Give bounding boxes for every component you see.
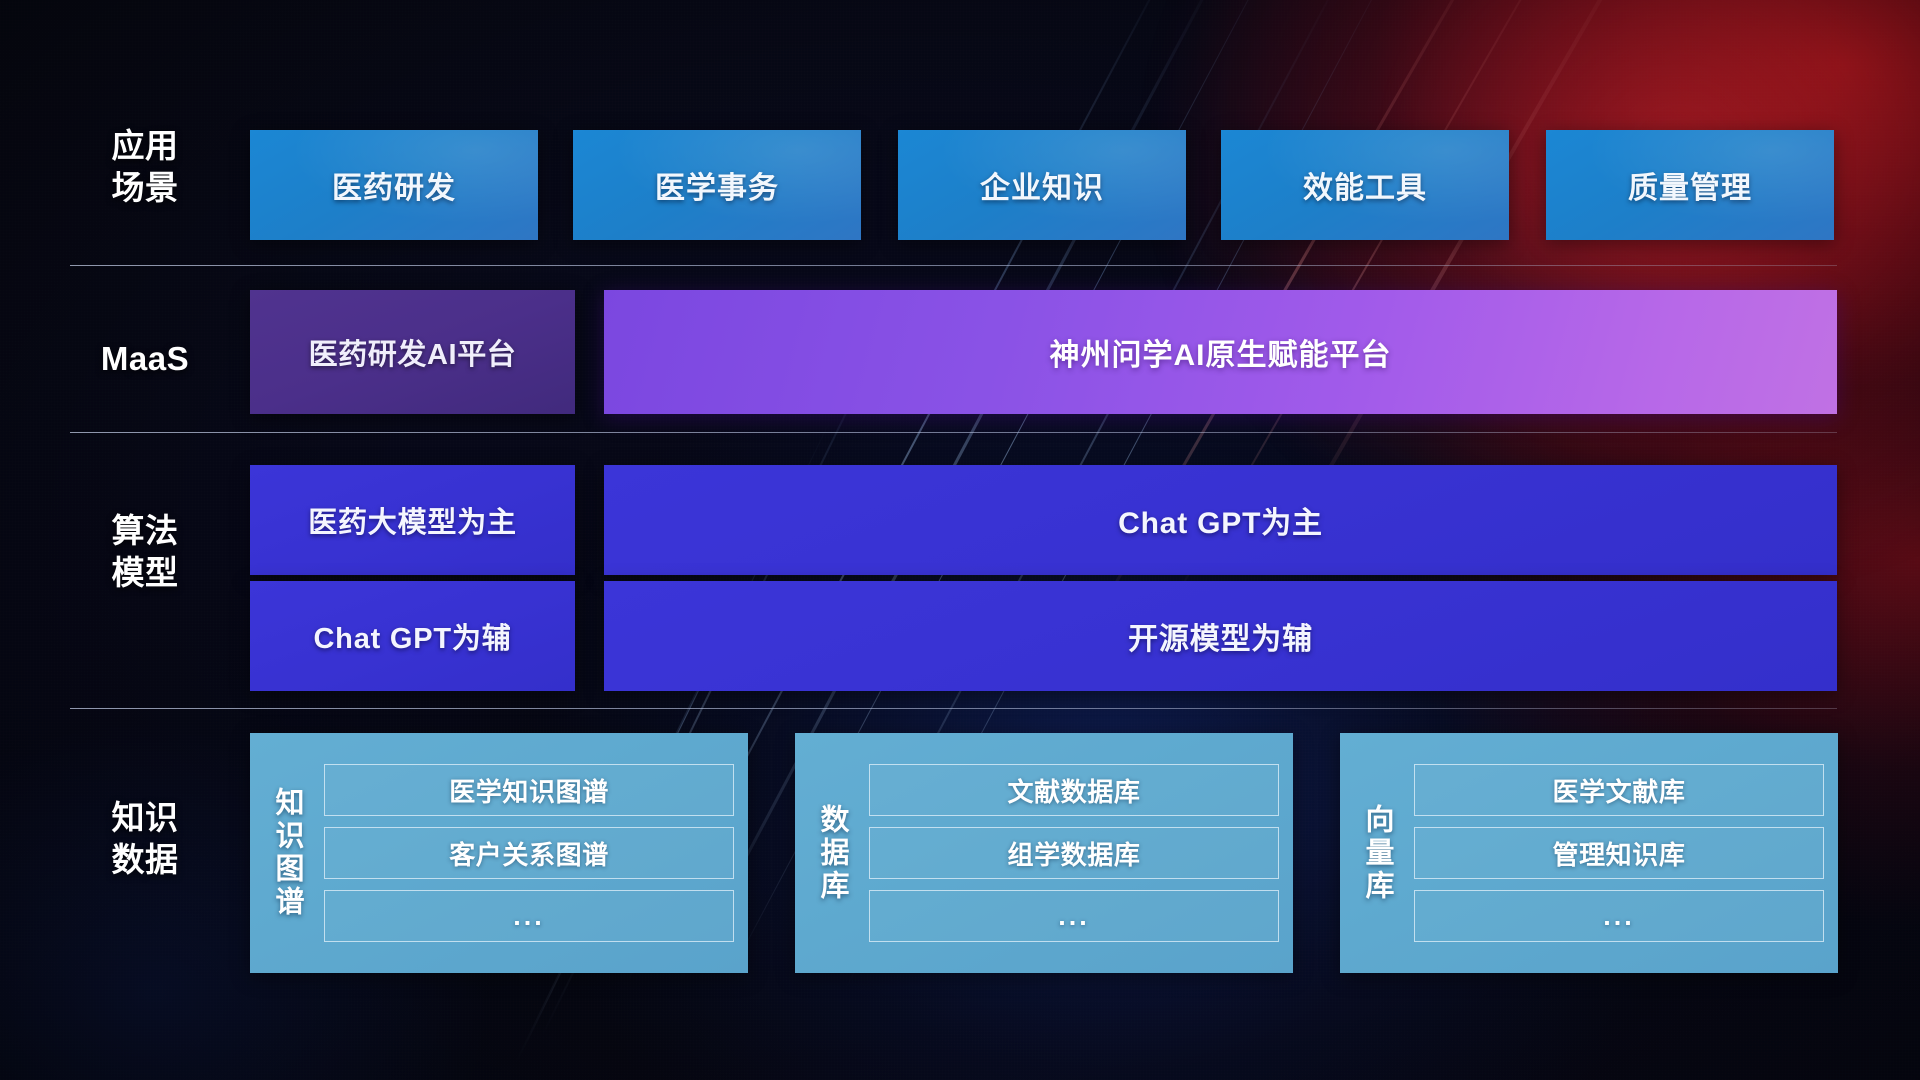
knowledge-item-database-2[interactable]: 组学数据库 xyxy=(869,827,1279,879)
architecture-diagram: 应用 场景 医药研发 医学事务 企业知识 效能工具 质量管理 MaaS 医药研发… xyxy=(0,0,1920,1080)
app-card-4[interactable]: 效能工具 xyxy=(1221,130,1509,240)
maas-platform-card-shenzhou-label: 神州问学AI原生赋能平台 xyxy=(1050,330,1392,374)
app-card-5[interactable]: 质量管理 xyxy=(1546,130,1834,240)
algo-card-left-1-label: 医药大模型为主 xyxy=(308,499,517,541)
divider-application-maas xyxy=(70,265,1837,266)
knowledge-item-graph-3[interactable]: ... xyxy=(324,890,734,942)
knowledge-item-database-3[interactable]: ... xyxy=(869,890,1279,942)
app-card-4-label: 效能工具 xyxy=(1303,163,1427,207)
knowledge-card-database-items: 文献数据库 组学数据库 ... xyxy=(869,747,1279,959)
knowledge-card-vector-items: 医学文献库 管理知识库 ... xyxy=(1414,747,1824,959)
row-label-knowledge-data: 知识 数据 xyxy=(70,797,220,880)
maas-platform-card-shenzhou[interactable]: 神州问学AI原生赋能平台 xyxy=(604,290,1837,414)
knowledge-card-database-vertical-label: 数据库 xyxy=(795,747,869,959)
divider-maas-algorithm xyxy=(70,432,1837,433)
app-card-2[interactable]: 医学事务 xyxy=(573,130,861,240)
knowledge-card-graph-vertical-label: 知识图谱 xyxy=(250,747,324,959)
app-card-5-label: 质量管理 xyxy=(1628,163,1752,207)
algo-card-right-1[interactable]: Chat GPT为主 xyxy=(604,465,1837,575)
knowledge-card-database[interactable]: 数据库 文献数据库 组学数据库 ... xyxy=(795,733,1293,973)
maas-platform-card-pharma-label: 医药研发AI平台 xyxy=(309,331,517,373)
algo-card-right-2-label: 开源模型为辅 xyxy=(1128,614,1313,658)
row-label-maas: MaaS xyxy=(70,338,220,380)
divider-algorithm-knowledge xyxy=(70,708,1837,709)
app-card-1-label: 医药研发 xyxy=(332,163,456,207)
row-label-algorithm-models: 算法 模型 xyxy=(70,510,220,593)
algo-card-right-2[interactable]: 开源模型为辅 xyxy=(604,581,1837,691)
app-card-1[interactable]: 医药研发 xyxy=(250,130,538,240)
knowledge-item-graph-2[interactable]: 客户关系图谱 xyxy=(324,827,734,879)
app-card-2-label: 医学事务 xyxy=(655,163,779,207)
algo-card-right-1-label: Chat GPT为主 xyxy=(1118,498,1323,542)
app-card-3-label: 企业知识 xyxy=(980,163,1104,207)
app-card-3[interactable]: 企业知识 xyxy=(898,130,1186,240)
row-label-application-scenarios: 应用 场景 xyxy=(70,125,220,208)
algo-card-left-2-label: Chat GPT为辅 xyxy=(313,615,511,657)
knowledge-item-vector-1[interactable]: 医学文献库 xyxy=(1414,764,1824,816)
knowledge-item-vector-3[interactable]: ... xyxy=(1414,890,1824,942)
knowledge-card-vector-vertical-label: 向量库 xyxy=(1340,747,1414,959)
algo-card-left-2[interactable]: Chat GPT为辅 xyxy=(250,581,575,691)
maas-platform-card-pharma[interactable]: 医药研发AI平台 xyxy=(250,290,575,414)
knowledge-item-vector-2[interactable]: 管理知识库 xyxy=(1414,827,1824,879)
knowledge-card-graph[interactable]: 知识图谱 医学知识图谱 客户关系图谱 ... xyxy=(250,733,748,973)
knowledge-card-graph-items: 医学知识图谱 客户关系图谱 ... xyxy=(324,747,734,959)
algo-card-left-1[interactable]: 医药大模型为主 xyxy=(250,465,575,575)
knowledge-item-database-1[interactable]: 文献数据库 xyxy=(869,764,1279,816)
knowledge-card-vector[interactable]: 向量库 医学文献库 管理知识库 ... xyxy=(1340,733,1838,973)
knowledge-item-graph-1[interactable]: 医学知识图谱 xyxy=(324,764,734,816)
